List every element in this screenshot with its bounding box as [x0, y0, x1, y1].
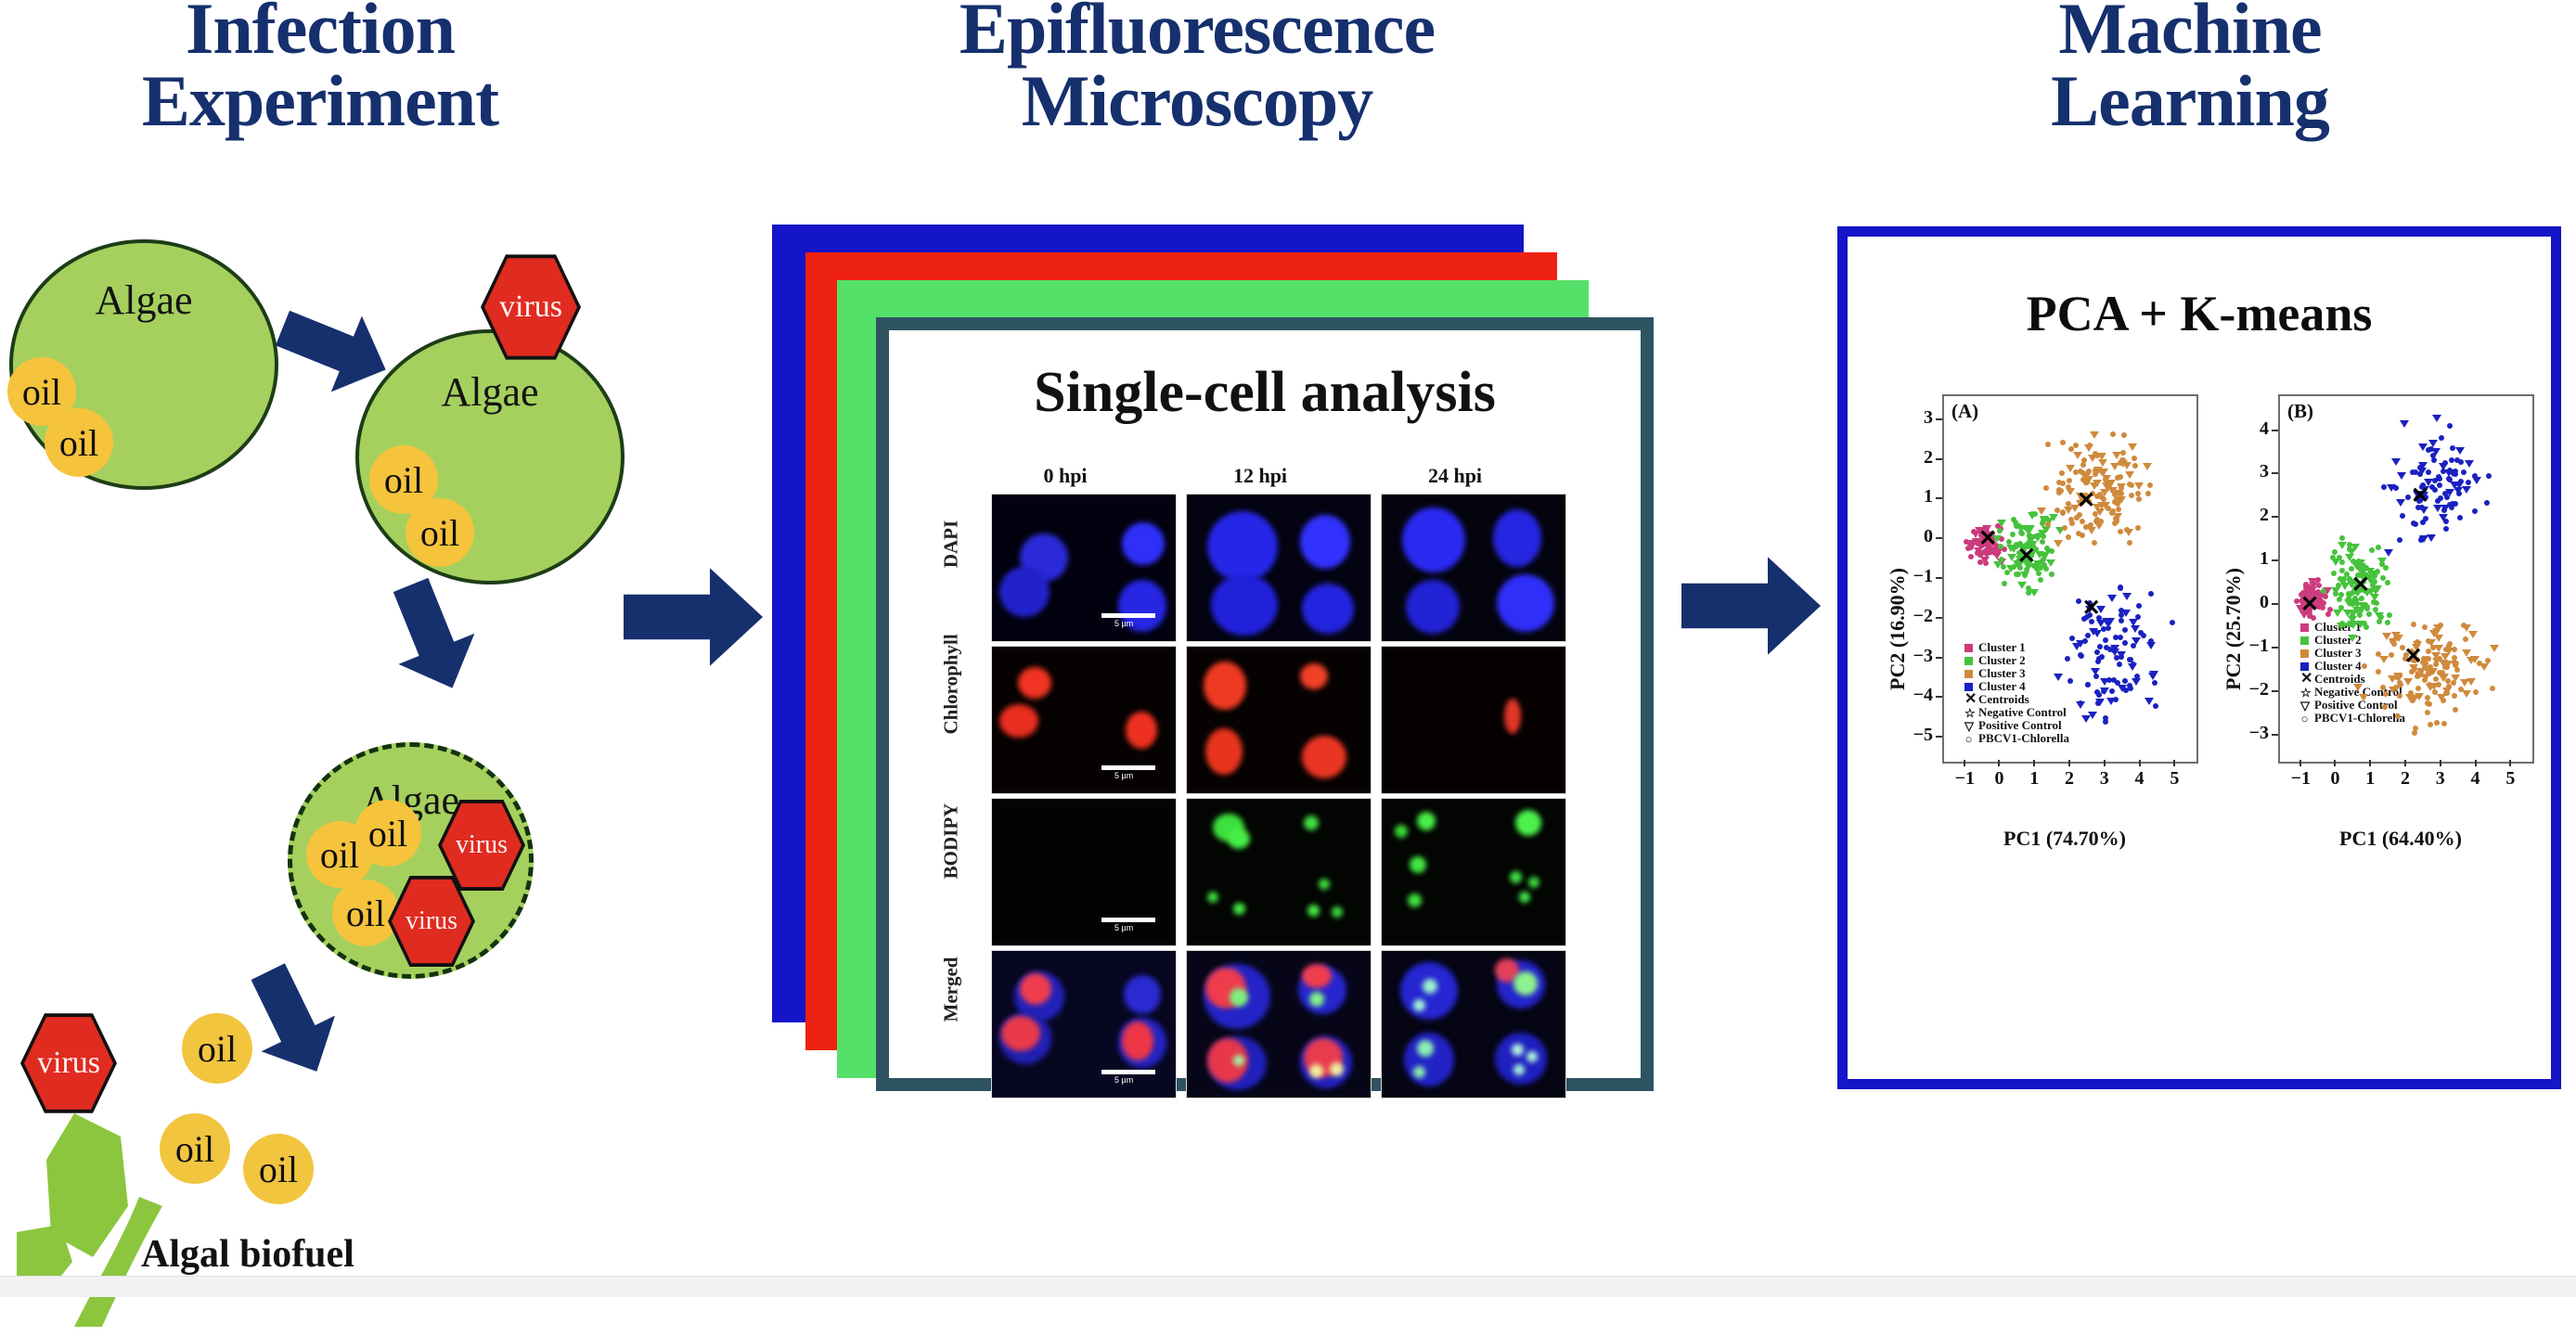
- y-tick-mark: [2272, 430, 2278, 431]
- y-tick-mark: [1936, 458, 1942, 460]
- scatter-point: [2472, 473, 2478, 479]
- scatter-point: [2387, 612, 2392, 618]
- y-tick-mark: [1936, 418, 1942, 420]
- x-tick-label: 4: [2467, 768, 2485, 790]
- column-header-24hpi: 24 hpi: [1362, 464, 1548, 488]
- scatter-point: [2006, 539, 2012, 545]
- oil-label: oil: [22, 370, 61, 414]
- scatter-point: [2463, 636, 2468, 642]
- legend-label: PBCV1-Chlorella: [1978, 731, 2069, 746]
- virus-label: virus: [406, 906, 457, 936]
- centroid-icon: ✕: [2300, 672, 2309, 687]
- scatter-point: [2040, 551, 2045, 557]
- scatter-point: [2437, 482, 2442, 488]
- scatter-point: [2331, 571, 2337, 576]
- oil-label: oil: [384, 458, 423, 502]
- scatter-point: [2452, 693, 2457, 699]
- scatter-point: [2376, 545, 2381, 550]
- row-header-chlorophyll: Chlorophyll: [940, 651, 963, 735]
- scatter-point: [2122, 678, 2128, 684]
- scatter-point: [2072, 643, 2081, 650]
- x-tick-mark: [2404, 760, 2406, 766]
- legend-swatch: [1964, 670, 1973, 678]
- y-tick-label: −1: [1911, 566, 1933, 587]
- negative-control-icon: ☆: [1964, 707, 1973, 719]
- scatter-point: [2349, 566, 2354, 572]
- scatter-point: [2136, 496, 2142, 502]
- scatter-point: [2376, 651, 2381, 657]
- scatter-point: [2082, 638, 2088, 644]
- scatter-point: [2127, 540, 2132, 546]
- scatter-point: [2080, 519, 2085, 524]
- scatter-point: [2128, 443, 2137, 451]
- scatter-point: [2432, 415, 2441, 422]
- legend-item: Cluster 2: [1964, 654, 2069, 667]
- negative-control-icon: ☆: [2300, 687, 2309, 699]
- scatter-point: [2419, 535, 2425, 541]
- scatter-point: [2073, 452, 2082, 459]
- scatter-point: [2400, 513, 2405, 519]
- legend-item: ▽Positive Control: [2300, 699, 2405, 712]
- scatter-point: [1997, 520, 2006, 527]
- arrow-to-microscopy: [624, 566, 763, 668]
- column-header-0hpi: 0 hpi: [972, 464, 1158, 488]
- pca-plot-a-xlabel: PC1 (74.70%): [1926, 827, 2204, 851]
- pca-plot-b: PC2 (25.70%) PC1 (64.40%) (B) Cluster 1C…: [2206, 376, 2549, 1044]
- scatter-point: [2132, 678, 2141, 686]
- scatter-point: [2080, 462, 2086, 468]
- y-tick-mark: [1936, 617, 1942, 619]
- virus-particle: virus: [484, 256, 577, 358]
- scatter-point: [2065, 656, 2070, 662]
- scatter-point: [2117, 483, 2126, 491]
- oil-label: oil: [259, 1148, 298, 1191]
- scatter-point: [2486, 473, 2492, 479]
- scatter-point: [1993, 561, 2003, 569]
- scatter-point: [2129, 493, 2134, 498]
- x-tick-mark: [2173, 760, 2175, 766]
- y-tick-label: 1: [2247, 548, 2269, 570]
- scatter-point: [2391, 458, 2401, 466]
- scatter-point: [2006, 565, 2016, 572]
- scatter-point: [2403, 678, 2413, 686]
- scatter-point: [2127, 683, 2132, 688]
- scatter-point: [2002, 581, 2007, 586]
- microscopy-tile: 5 µm: [991, 494, 1177, 642]
- x-tick-label: 2: [2396, 768, 2415, 790]
- scatter-point: [2067, 678, 2073, 684]
- scatter-point: [2308, 578, 2317, 585]
- scatter-point: [2436, 682, 2441, 687]
- pca-plot-b-panel-tag: (B): [2287, 400, 2313, 423]
- scatter-point: [2118, 474, 2123, 480]
- scatter-point: [2473, 689, 2479, 695]
- scatter-point: [2098, 459, 2107, 467]
- scatter-point: [2041, 562, 2047, 568]
- scatter-point: [2439, 435, 2444, 441]
- y-tick-mark: [1936, 577, 1942, 579]
- y-tick-label: −2: [2247, 679, 2269, 700]
- scatter-point: [2454, 457, 2460, 463]
- scatter-point: [2410, 469, 2415, 475]
- scatter-point: [2378, 614, 2384, 620]
- scatter-point: [2396, 499, 2405, 507]
- scatter-point: [2084, 444, 2093, 452]
- x-tick-label: 3: [2095, 768, 2114, 790]
- y-tick-mark: [1936, 696, 1942, 698]
- scatter-point: [2451, 680, 2456, 686]
- scatter-point: [2348, 635, 2357, 642]
- scatter-point: [2468, 631, 2478, 638]
- x-tick-label: 1: [2361, 768, 2379, 790]
- microscopy-tile: 5 µm: [991, 646, 1177, 794]
- scatter-point: [2470, 656, 2479, 663]
- x-tick-mark: [2104, 760, 2106, 766]
- algal-biofuel-label: Algal biofuel: [141, 1232, 354, 1277]
- microscopy-tile: [1381, 798, 1566, 946]
- scatter-point: [2415, 674, 2420, 679]
- scatter-point: [2336, 583, 2341, 588]
- legend-item: ▽Positive Control: [1964, 719, 2069, 732]
- legend-label: PBCV1-Chlorella: [2314, 711, 2405, 726]
- scatter-point: [2423, 516, 2428, 521]
- scatter-point: [2337, 623, 2346, 630]
- y-tick-label: 3: [2247, 461, 2269, 482]
- oil-label: oil: [320, 833, 359, 877]
- column-header-12hpi: 12 hpi: [1167, 464, 1353, 488]
- scatter-point: [2097, 644, 2103, 649]
- y-tick-label: 3: [1911, 407, 1933, 429]
- y-tick-mark: [2272, 559, 2278, 561]
- x-tick-mark: [1998, 760, 2000, 766]
- scatter-point: [2422, 624, 2428, 630]
- oil-droplet: oil: [332, 880, 399, 946]
- y-tick-label: 0: [1911, 526, 1933, 547]
- scatter-point: [2447, 641, 2453, 647]
- pca-plot-b-frame: (B) Cluster 1Cluster 2Cluster 3Cluster 4…: [2278, 394, 2534, 764]
- y-tick-label: 2: [2247, 505, 2269, 526]
- y-tick-mark: [2272, 472, 2278, 474]
- scatter-point: [2461, 623, 2467, 628]
- virus-label: virus: [456, 830, 508, 860]
- scatter-point: [2088, 712, 2097, 719]
- scatter-point: [2118, 585, 2123, 591]
- scatter-point: [2114, 496, 2119, 502]
- scatter-point: [2093, 480, 2102, 487]
- y-tick-label: −3: [1911, 646, 1933, 667]
- y-tick-label: 2: [1911, 447, 1933, 469]
- x-tick-mark: [2440, 760, 2441, 766]
- pca-plot-b-xlabel: PC1 (64.40%): [2261, 827, 2540, 851]
- scatter-point: [2054, 674, 2063, 681]
- scatter-point: [2124, 529, 2133, 536]
- arrow-to-machine-learning: [1681, 555, 1821, 657]
- scatter-point: [2119, 618, 2124, 623]
- scatter-point: [2444, 664, 2450, 670]
- scatter-point: [2462, 486, 2471, 494]
- scatter-point: [2371, 599, 2376, 605]
- y-tick-mark: [2272, 516, 2278, 518]
- infection-title-line1: Infection: [19, 0, 622, 65]
- scatter-point: [2067, 478, 2072, 483]
- scatter-point: [2382, 704, 2388, 710]
- scatter-point: [2103, 637, 2108, 643]
- scatter-point: [2385, 620, 2390, 625]
- scatter-point: [2431, 457, 2437, 463]
- oil-label: oil: [198, 1027, 237, 1071]
- scatter-point: [2118, 635, 2123, 640]
- scatter-point: [2037, 507, 2046, 515]
- scatter-point: [2110, 645, 2119, 652]
- pca-kmeans-title: PCA + K-means: [1848, 285, 2551, 342]
- oil-droplet-free: oil: [182, 1013, 252, 1084]
- legend-swatch: [2300, 662, 2309, 671]
- arrow-infection-step2: [371, 569, 492, 704]
- scatter-point: [2145, 491, 2151, 496]
- scatter-point: [2103, 715, 2108, 721]
- scatter-point: [2427, 665, 2432, 671]
- scatter-point: [2453, 662, 2458, 668]
- centroid-marker: ✕: [1977, 528, 1998, 550]
- microscopy-tile: [1186, 950, 1372, 1098]
- legend-item: ☆Negative Control: [1964, 706, 2069, 719]
- oil-label: oil: [346, 892, 385, 935]
- legend-swatch: [1964, 644, 1973, 652]
- microscopy-tile: 5 µm: [991, 950, 1177, 1098]
- centroid-marker: ✕: [2016, 546, 2037, 568]
- x-tick-mark: [1964, 760, 1965, 766]
- scatter-point: [2149, 671, 2158, 678]
- scale-bar-label: 5 µm: [1114, 771, 1133, 780]
- scatter-point: [2441, 698, 2446, 703]
- scatter-point: [2444, 690, 2450, 696]
- scale-bar: [1101, 1070, 1155, 1074]
- pca-plot-a-legend: Cluster 1Cluster 2Cluster 3Cluster 4✕Cen…: [1961, 639, 2073, 747]
- x-tick-label: 1: [2025, 768, 2043, 790]
- legend-swatch: [1964, 683, 1973, 691]
- scatter-point: [2109, 688, 2115, 694]
- y-tick-label: −2: [1911, 606, 1933, 627]
- scatter-point: [2387, 484, 2396, 492]
- scatter-point: [2170, 620, 2175, 625]
- scatter-point: [2045, 442, 2051, 447]
- scatter-point: [2400, 420, 2409, 428]
- scatter-point: [2428, 722, 2433, 727]
- scatter-point: [2453, 707, 2458, 713]
- scatter-point: [2422, 677, 2428, 683]
- centroid-marker: ✕: [2403, 646, 2424, 668]
- legend-item: Cluster 4: [2300, 660, 2405, 673]
- scatter-point: [2413, 726, 2418, 731]
- scatter-point: [2062, 525, 2067, 531]
- scatter-point: [2452, 655, 2457, 661]
- scatter-point: [2434, 720, 2440, 726]
- x-tick-mark: [2033, 760, 2035, 766]
- scatter-point: [2078, 469, 2083, 474]
- scatter-point: [2441, 653, 2450, 661]
- oil-droplet: oil: [406, 498, 474, 567]
- scatter-point: [2321, 588, 2326, 594]
- scatter-point: [2443, 519, 2449, 524]
- scatter-point: [2098, 519, 2104, 524]
- scatter-point: [2397, 693, 2402, 699]
- scatter-point: [2110, 487, 2116, 493]
- scatter-point: [2107, 595, 2117, 602]
- x-tick-label: 3: [2431, 768, 2450, 790]
- y-tick-label: 1: [1911, 486, 1933, 507]
- scatter-point: [2397, 472, 2406, 480]
- machine-learning-panel: PCA + K-means PC2 (16.90%) PC1 (74.70%) …: [1837, 226, 2561, 1089]
- scatter-point: [2364, 606, 2370, 611]
- scatter-point: [2332, 549, 2338, 555]
- arrow-infection-step3: [229, 953, 354, 1090]
- scatter-point: [2106, 618, 2115, 625]
- scatter-point: [2450, 445, 2455, 451]
- scatter-point: [1968, 554, 1974, 559]
- x-tick-label: 2: [2060, 768, 2079, 790]
- microscopy-tile: [1381, 646, 1566, 794]
- centroid-marker: ✕: [2351, 574, 2371, 597]
- row-header-dapi: DAPI: [940, 503, 963, 586]
- scatter-point: [2135, 491, 2141, 496]
- scatter-point: [2146, 642, 2156, 649]
- section-title-infection: Infection Experiment: [19, 0, 622, 137]
- row-header-merged: Merged: [940, 948, 963, 1032]
- scatter-point: [2093, 674, 2099, 679]
- y-tick-label: −3: [2247, 723, 2269, 744]
- virus-particle-internal: virus: [442, 802, 522, 889]
- scatter-point: [2120, 450, 2126, 456]
- scatter-point: [2457, 515, 2463, 520]
- x-tick-label: −1: [2291, 768, 2310, 790]
- oil-droplet-free: oil: [243, 1134, 314, 1204]
- scatter-point: [2029, 589, 2039, 597]
- single-cell-analysis-title: Single-cell analysis: [889, 360, 1641, 426]
- scatter-point: [2110, 431, 2116, 437]
- scatter-point: [2134, 482, 2144, 490]
- scatter-point: [2152, 680, 2157, 686]
- scatter-point: [2366, 611, 2372, 617]
- virus-particle-internal: virus: [392, 878, 471, 965]
- scatter-point: [2466, 480, 2471, 485]
- scatter-point: [2432, 689, 2438, 695]
- scatter-point: [2080, 477, 2086, 482]
- y-tick-mark: [1936, 497, 1942, 499]
- scatter-point: [2452, 647, 2457, 652]
- centroid-marker: ✕: [2081, 597, 2102, 620]
- scatter-point: [2397, 537, 2402, 543]
- scatter-point: [2089, 628, 2098, 636]
- scatter-point: [2109, 510, 2115, 516]
- scatter-point: [2427, 534, 2436, 542]
- virus-label: virus: [499, 289, 562, 325]
- scatter-point: [2429, 630, 2439, 637]
- y-tick-mark: [2272, 603, 2278, 605]
- x-tick-label: 0: [1990, 768, 2008, 790]
- scatter-point: [2049, 572, 2054, 577]
- scatter-point: [2456, 482, 2462, 487]
- scatter-point: [2116, 507, 2121, 512]
- scatter-point: [2059, 470, 2065, 476]
- scatter-point: [2135, 525, 2141, 531]
- algae-cell-healthy-label: Algae: [13, 276, 275, 324]
- scatter-point: [2017, 582, 2027, 589]
- scatter-point: [1965, 546, 1971, 551]
- y-tick-mark: [2272, 690, 2278, 692]
- scatter-point: [2411, 520, 2416, 526]
- graphical-abstract: Infection Experiment Epifluorescence Mic…: [0, 0, 2576, 1297]
- scatter-point: [2117, 662, 2122, 667]
- scatter-point: [2058, 488, 2064, 494]
- virus-label: virus: [37, 1046, 100, 1081]
- scatter-point: [2449, 457, 2454, 463]
- scatter-point: [2132, 456, 2137, 461]
- scatter-point: [2359, 694, 2368, 701]
- x-tick-label: −1: [1955, 768, 1974, 790]
- pbcv1-chlorella-icon: ○: [1964, 733, 1973, 745]
- y-tick-label: 0: [2247, 592, 2269, 613]
- scatter-point: [2417, 468, 2427, 475]
- legend-item: Cluster 1: [1964, 641, 2069, 654]
- ml-title-line2: Learning: [1819, 65, 2561, 137]
- scatter-point: [2010, 532, 2016, 537]
- scale-bar: [1101, 613, 1155, 618]
- y-tick-mark: [1936, 657, 1942, 659]
- scatter-point: [2125, 471, 2134, 479]
- legend-swatch: [2300, 623, 2309, 632]
- y-tick-label: 4: [2247, 418, 2269, 440]
- scatter-point: [2424, 656, 2429, 662]
- scale-bar-label: 5 µm: [1114, 619, 1133, 628]
- pca-plot-a: PC2 (16.90%) PC1 (74.70%) (A) Cluster 1C…: [1870, 376, 2213, 1044]
- scatter-point: [2369, 547, 2375, 553]
- scatter-point: [2122, 640, 2128, 646]
- legend-item: ○PBCV1-Chlorella: [1964, 732, 2069, 745]
- oil-label: oil: [368, 812, 407, 855]
- scatter-point: [2073, 443, 2079, 448]
- scatter-point: [2060, 440, 2066, 445]
- microscopy-tile: [1381, 950, 1566, 1098]
- scatter-point: [2331, 587, 2340, 595]
- pca-plot-a-panel-tag: (A): [1951, 400, 1978, 423]
- scatter-point: [2444, 495, 2450, 500]
- x-tick-mark: [2475, 760, 2477, 766]
- scatter-point: [2373, 607, 2378, 612]
- scatter-point: [2462, 690, 2471, 698]
- scatter-point: [2337, 597, 2342, 602]
- scatter-point: [2410, 698, 2415, 703]
- scatter-point: [2085, 682, 2091, 687]
- legend-item: Cluster 4: [1964, 680, 2069, 693]
- scatter-point: [2080, 533, 2085, 538]
- microscopy-title-line2: Microscopy: [779, 65, 1615, 137]
- scatter-point: [2384, 549, 2393, 557]
- positive-control-icon: ▽: [2300, 700, 2309, 712]
- scatter-point: [2078, 700, 2083, 706]
- scatter-point: [2038, 577, 2043, 583]
- scatter-point: [2043, 485, 2049, 491]
- algae-cell-exposed-label: Algae: [359, 368, 621, 416]
- scatter-point: [2339, 559, 2345, 565]
- scatter-point: [2349, 622, 2358, 629]
- scatter-point: [2490, 645, 2499, 652]
- x-tick-mark: [2068, 760, 2070, 766]
- y-tick-label: −4: [1911, 685, 1933, 706]
- scatter-point: [2113, 697, 2119, 702]
- scatter-point: [2143, 463, 2152, 470]
- scatter-point: [2435, 498, 2441, 504]
- legend-swatch: [1964, 657, 1973, 665]
